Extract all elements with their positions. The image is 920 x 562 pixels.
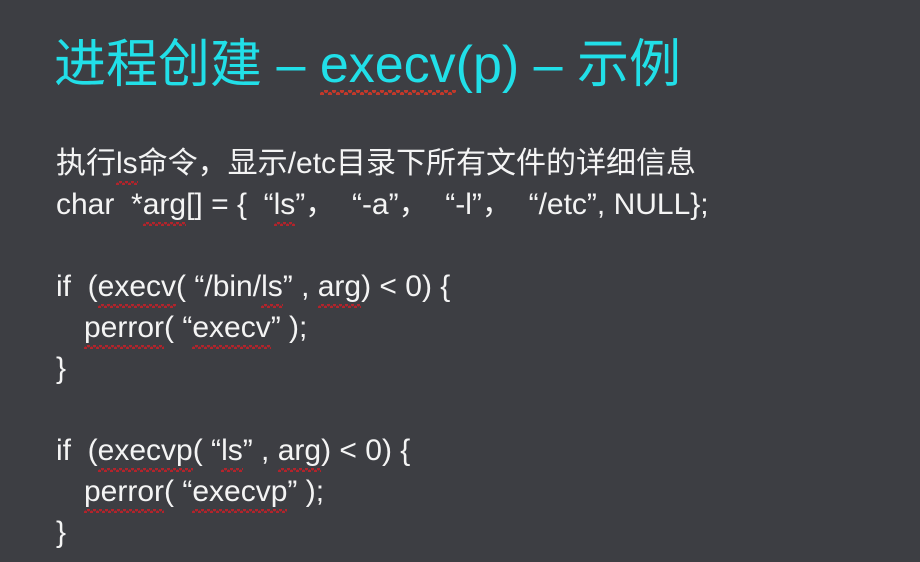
- code-line-blank: [56, 389, 902, 430]
- code-text: ” ,: [243, 434, 278, 467]
- page-title-middle: (p) –: [456, 36, 577, 94]
- presentation-slide: 进程创建 – execv(p) – 示例 执行ls命令，显示/etc目录下所有文…: [0, 0, 920, 562]
- misspelled-word: arg: [318, 266, 361, 307]
- code-line: perror( “execv” );: [56, 307, 902, 348]
- code-line: }: [56, 348, 902, 389]
- code-text: ( “: [164, 311, 192, 344]
- code-line: char *arg[] = { “ls”， “-a”， “-l”， “/etc”…: [56, 184, 902, 225]
- page-title-prefix: 进程创建 –: [54, 36, 320, 94]
- page-title-misspelled-word: execv: [320, 34, 456, 96]
- code-text: }: [56, 352, 66, 385]
- code-line: if (execv( “/bin/ls” , arg) < 0) {: [56, 266, 902, 307]
- code-text: ” );: [287, 475, 324, 508]
- misspelled-word: perror: [84, 471, 164, 512]
- code-text: ) < 0) {: [321, 434, 410, 467]
- code-line: 执行ls命令，显示/etc目录下所有文件的详细信息: [56, 143, 902, 184]
- misspelled-word: ls: [261, 266, 283, 307]
- code-text: ( “: [193, 434, 221, 467]
- code-line: }: [56, 512, 902, 553]
- misspelled-word: execv: [192, 307, 270, 348]
- code-line: perror( “execvp” );: [56, 471, 902, 512]
- code-line-blank: [56, 225, 902, 266]
- misspelled-word: perror: [84, 307, 164, 348]
- code-line: if (execvp( “ls” , arg) < 0) {: [56, 430, 902, 471]
- code-text: char *: [56, 188, 143, 221]
- page-title-suffix: 示例: [577, 36, 681, 94]
- misspelled-word: ls: [116, 143, 138, 184]
- code-text: 执行: [56, 147, 116, 180]
- misspelled-word: execvp: [98, 430, 193, 471]
- code-text: ”， “-a”， “-l”， “/etc”, NULL};: [295, 188, 708, 221]
- code-text: if (: [56, 434, 98, 467]
- page-title: 进程创建 – execv(p) – 示例: [54, 34, 681, 96]
- code-text: [] = { “: [186, 188, 274, 221]
- misspelled-word: arg: [143, 184, 186, 225]
- misspelled-word: execvp: [192, 471, 287, 512]
- misspelled-word: arg: [278, 430, 321, 471]
- code-text: if (: [56, 270, 98, 303]
- code-text: ) < 0) {: [361, 270, 450, 303]
- misspelled-word: execv: [98, 266, 176, 307]
- code-text: ” );: [271, 311, 308, 344]
- code-text: 命令，显示/etc目录下所有文件的详细信息: [138, 147, 696, 180]
- misspelled-word: ls: [274, 184, 296, 225]
- misspelled-word: ls: [221, 430, 243, 471]
- slide-body-code-block: 执行ls命令，显示/etc目录下所有文件的详细信息char *arg[] = {…: [56, 143, 902, 553]
- code-text: ( “/bin/: [176, 270, 261, 303]
- code-text: ( “: [164, 475, 192, 508]
- code-text: }: [56, 516, 66, 549]
- code-text: ” ,: [283, 270, 318, 303]
